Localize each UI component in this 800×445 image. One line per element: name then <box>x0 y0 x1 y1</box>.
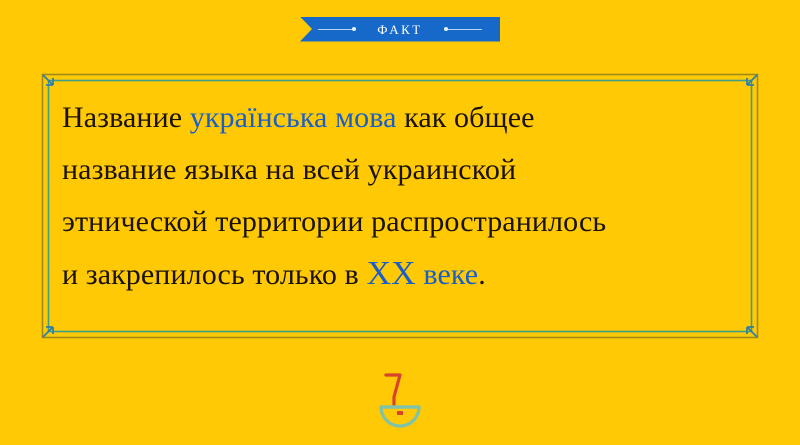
quote-segment-highlight: українська мова <box>190 101 397 134</box>
quote-line: Название українська мова как общее <box>62 92 742 144</box>
quote-line: и закрепилось только в XX веке. <box>62 248 742 301</box>
quote-text: Название українська мова как общее назва… <box>62 92 742 301</box>
quote-segment: этнической территории распространилось <box>62 205 606 238</box>
banner-container: ФАКТ <box>0 16 800 42</box>
ribbon-label: ФАКТ <box>300 17 500 42</box>
ladle-ornament-icon <box>369 366 431 428</box>
quote-segment-highlight: веке <box>416 258 478 291</box>
quote-segment: и закрепилось только в <box>62 258 366 291</box>
ornament-container <box>0 366 800 428</box>
quote-line: название языка на всей украинской <box>62 144 742 196</box>
quote-line: этнической территории распространилось <box>62 196 742 248</box>
fact-ribbon: ФАКТ <box>300 17 500 42</box>
quote-segment: название языка на всей украинской <box>62 153 516 186</box>
quote-segment: как общее <box>397 101 535 134</box>
quote-segment-roman: XX <box>366 255 415 292</box>
quote-segment: . <box>478 258 486 291</box>
quote-segment: Название <box>62 101 190 134</box>
